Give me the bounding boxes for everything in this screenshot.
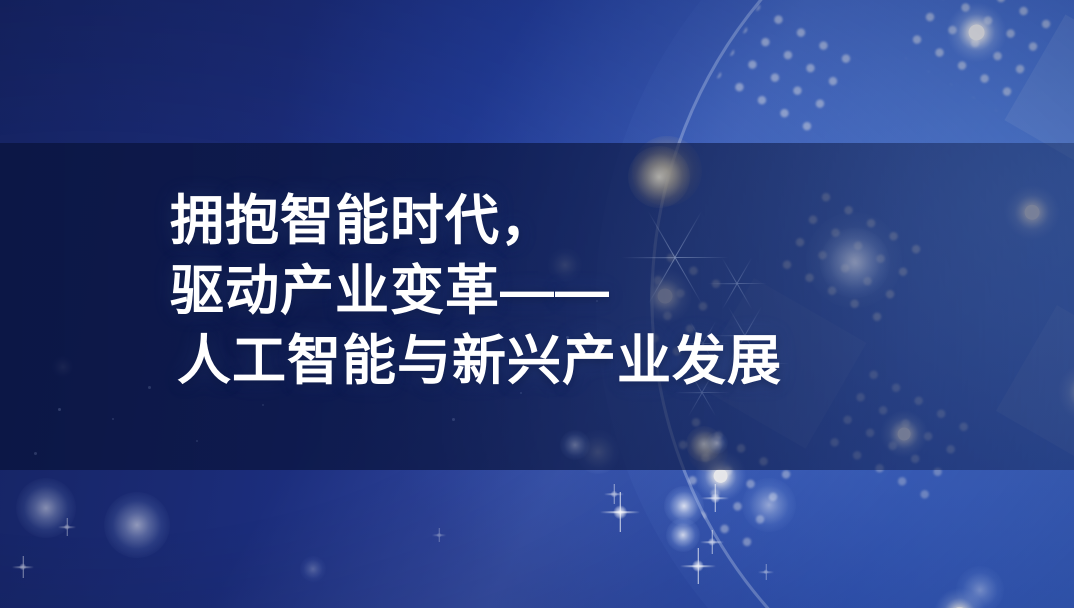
- banner-slide: 拥抱智能时代， 驱动产业变革—— 人工智能与新兴产业发展: [0, 0, 1074, 608]
- headline-block: 拥抱智能时代， 驱动产业变革—— 人工智能与新兴产业发展: [170, 186, 930, 396]
- headline-line-2: 驱动产业变革——: [170, 256, 930, 326]
- headline-line-3: 人工智能与新兴产业发展: [170, 326, 930, 396]
- headline-line-1: 拥抱智能时代，: [170, 186, 930, 256]
